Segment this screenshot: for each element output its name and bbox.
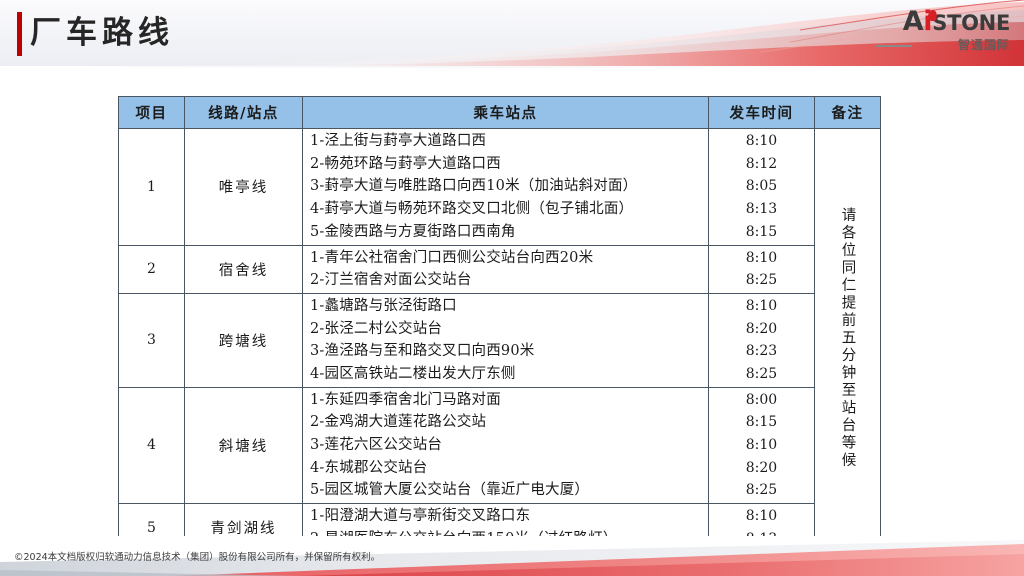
stop-item: 2-汀兰宿舍对面公交站台 [303, 269, 708, 292]
stop-item: 1-阳澄湖大道与亭新街交叉路口东 [303, 505, 708, 528]
row-route-name: 斜塘线 [185, 387, 303, 504]
brand-letter-a: A [903, 6, 924, 37]
row-item-number: 3 [119, 293, 185, 387]
departure-time: 8:05 [709, 175, 814, 198]
departure-time: 8:25 [709, 269, 814, 292]
departure-time: 8:13 [709, 198, 814, 221]
departure-time: 8:10 [709, 295, 814, 318]
brand-letters-stone: STONE [932, 11, 1010, 35]
departure-time: 8:25 [709, 479, 814, 502]
row-time-list: 8:108:25 [709, 245, 815, 293]
departure-time: 8:12 [709, 153, 814, 176]
departure-time: 8:20 [709, 318, 814, 341]
stop-item: 1-青年公社宿舍门口西侧公交站台向西20米 [303, 247, 708, 270]
stop-item: 2-张泾二村公交站台 [303, 318, 708, 341]
table-row: 4斜塘线1-东延四季宿舍北门马路对面2-金鸡湖大道莲花路公交站3-莲花六区公交站… [119, 387, 881, 504]
column-header-remark: 备注 [815, 97, 881, 129]
departure-time: 8:15 [709, 221, 814, 244]
row-time-list: 8:008:158:108:208:25 [709, 387, 815, 504]
column-header-time: 发车时间 [709, 97, 815, 129]
departure-time: 8:10 [709, 247, 814, 270]
stop-item: 2-金鸡湖大道莲花路公交站 [303, 411, 708, 434]
row-route-name: 宿舍线 [185, 245, 303, 293]
stop-item: 5-园区城管大厦公交站台（靠近广电大厦） [303, 479, 708, 502]
departure-time: 8:23 [709, 340, 814, 363]
slide-header: 厂车路线 AiSTONE 智通国际 [0, 0, 1024, 68]
departure-time: 8:20 [709, 457, 814, 480]
stop-item: 1-蠡塘路与张泾街路口 [303, 295, 708, 318]
table-row: 1唯亭线1-泾上街与葑亭大道路口西2-畅苑环路与葑亭大道路口西3-葑亭大道与唯胜… [119, 129, 881, 246]
departure-time: 8:00 [709, 389, 814, 412]
table-header-row: 项目 线路/站点 乘车站点 发车时间 备注 [119, 97, 881, 129]
stop-item: 1-东延四季宿舍北门马路对面 [303, 389, 708, 412]
row-item-number: 2 [119, 245, 185, 293]
stop-item: 1-泾上街与葑亭大道路口西 [303, 130, 708, 153]
brand-logo: AiSTONE 智通国际 [870, 9, 1010, 59]
departure-time: 8:10 [709, 434, 814, 457]
row-stop-list: 1-蠡塘路与张泾街路口2-张泾二村公交站台3-渔泾路与至和路交叉口向西90米4-… [303, 293, 709, 387]
row-time-list: 8:108:208:238:25 [709, 293, 815, 387]
header-divider [0, 66, 1024, 68]
stop-item: 3-葑亭大道与唯胜路口向西10米（加油站斜对面） [303, 175, 708, 198]
title-accent-bar [17, 12, 22, 56]
column-header-stops: 乘车站点 [303, 97, 709, 129]
table-body: 1唯亭线1-泾上街与葑亭大道路口西2-畅苑环路与葑亭大道路口西3-葑亭大道与唯胜… [119, 129, 881, 553]
departure-time: 8:15 [709, 411, 814, 434]
stop-item: 3-莲花六区公交站台 [303, 434, 708, 457]
row-item-number: 1 [119, 129, 185, 246]
table-row: 3跨塘线1-蠡塘路与张泾街路口2-张泾二村公交站台3-渔泾路与至和路交叉口向西9… [119, 293, 881, 387]
stop-item: 4-园区高铁站二楼出发大厅东侧 [303, 363, 708, 386]
footer-copyright: ©2024本文档版权归软通动力信息技术（集团）股份有限公司所有，并保留所有权利。 [14, 549, 380, 563]
column-header-route: 线路/站点 [185, 97, 303, 129]
remark-cell: 请各位同仁提前五分钟至站台等候 [815, 129, 881, 553]
brand-wordmark: AiSTONE [870, 9, 1010, 36]
stop-item: 4-东城郡公交站台 [303, 457, 708, 480]
slide-footer: ©2024本文档版权归软通动力信息技术（集团）股份有限公司所有，并保留所有权利。 [0, 536, 1024, 576]
row-stop-list: 1-青年公社宿舍门口西侧公交站台向西20米2-汀兰宿舍对面公交站台 [303, 245, 709, 293]
row-time-list: 8:108:128:058:138:15 [709, 129, 815, 246]
column-header-item: 项目 [119, 97, 185, 129]
row-stop-list: 1-泾上街与葑亭大道路口西2-畅苑环路与葑亭大道路口西3-葑亭大道与唯胜路口向西… [303, 129, 709, 246]
table-row: 2宿舍线1-青年公社宿舍门口西侧公交站台向西20米2-汀兰宿舍对面公交站台8:1… [119, 245, 881, 293]
stop-item: 4-葑亭大道与畅苑环路交叉口北侧（包子铺北面） [303, 198, 708, 221]
departure-time: 8:25 [709, 363, 814, 386]
page-title: 厂车路线 [30, 11, 174, 56]
route-table: 项目 线路/站点 乘车站点 发车时间 备注 1唯亭线1-泾上街与葑亭大道路口西2… [118, 96, 881, 553]
row-item-number: 4 [119, 387, 185, 504]
row-route-name: 唯亭线 [185, 129, 303, 246]
row-route-name: 跨塘线 [185, 293, 303, 387]
stop-item: 5-金陵西路与方夏街路口西南角 [303, 221, 708, 244]
route-table-container: 项目 线路/站点 乘车站点 发车时间 备注 1唯亭线1-泾上街与葑亭大道路口西2… [118, 96, 880, 553]
stop-item: 2-畅苑环路与葑亭大道路口西 [303, 153, 708, 176]
stop-item: 3-渔泾路与至和路交叉口向西90米 [303, 340, 708, 363]
brand-subtitle: 智通国际 [870, 36, 1012, 53]
remark-text: 请各位同仁提前五分钟至站台等候 [837, 178, 859, 498]
departure-time: 8:10 [709, 505, 814, 528]
departure-time: 8:10 [709, 130, 814, 153]
row-stop-list: 1-东延四季宿舍北门马路对面2-金鸡湖大道莲花路公交站3-莲花六区公交站台4-东… [303, 387, 709, 504]
